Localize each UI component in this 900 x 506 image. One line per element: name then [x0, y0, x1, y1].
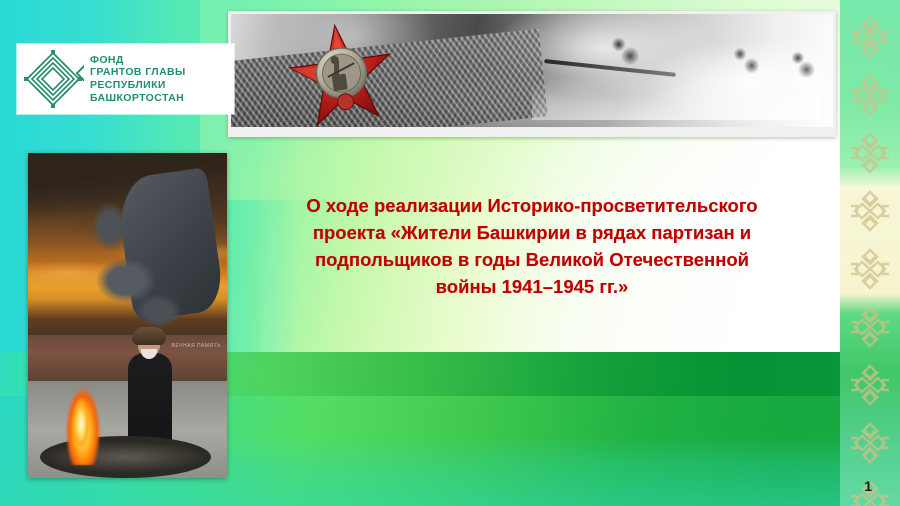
- logo-text-block: ФОНД ГРАНТОВ ГЛАВЫ РЕСПУБЛИКИ БАШКОРТОСТ…: [90, 54, 186, 104]
- logo-line-1: ФОНД: [90, 54, 186, 67]
- title-line-3: подпольщиков в годы Великой Отечественно…: [315, 249, 749, 270]
- bashkir-diamond-ornament-emblem: [22, 48, 84, 110]
- wwii-banner-image: [228, 11, 836, 137]
- ornament-motif: [849, 72, 891, 118]
- ornament-motif: [849, 420, 891, 466]
- bashkir-ornament-strip: [840, 0, 900, 506]
- photo-eternal-flame-core: [70, 384, 92, 446]
- ornament-motif: [849, 14, 891, 60]
- memorial-photo: ВЕЧНАЯ ПАМЯТЬ: [28, 153, 227, 478]
- logo-line-2: ГРАНТОВ ГЛАВЫ: [90, 66, 186, 79]
- ornament-motif: [849, 130, 891, 176]
- banner-photo-inner: [231, 14, 833, 127]
- ornament-motif: [849, 188, 891, 234]
- ornament-motif: [849, 304, 891, 350]
- title-line-4: войны 1941–1945 гг.»: [436, 276, 629, 297]
- ornament-motif: [849, 246, 891, 292]
- title-line-1: О ходе реализации Историко-просветительс…: [306, 195, 757, 216]
- veteran-coat: [128, 353, 172, 449]
- logo-line-4: БАШКОРТОСТАН: [90, 92, 186, 105]
- banner-soldiers-silhouettes: [532, 23, 821, 120]
- page-number: 1: [864, 478, 872, 494]
- presentation-slide: ФОНД ГРАНТОВ ГЛАВЫ РЕСПУБЛИКИ БАШКОРТОСТ…: [0, 0, 900, 506]
- logo-line-3: РЕСПУБЛИКИ: [90, 79, 186, 92]
- grant-fund-logo: ФОНД ГРАНТОВ ГЛАВЫ РЕСПУБЛИКИ БАШКОРТОСТ…: [17, 44, 234, 114]
- veteran-fur-hat: [132, 327, 166, 345]
- photo-kneeling-veteran: [124, 319, 176, 449]
- title-line-2: проекта «Жители Башкирии в рядах партиза…: [313, 222, 751, 243]
- slide-title: О ходе реализации Историко-просветительс…: [262, 192, 802, 300]
- ornament-motif-list: [840, 0, 900, 506]
- ornament-motif: [849, 362, 891, 408]
- order-of-the-red-star-icon: [267, 21, 417, 127]
